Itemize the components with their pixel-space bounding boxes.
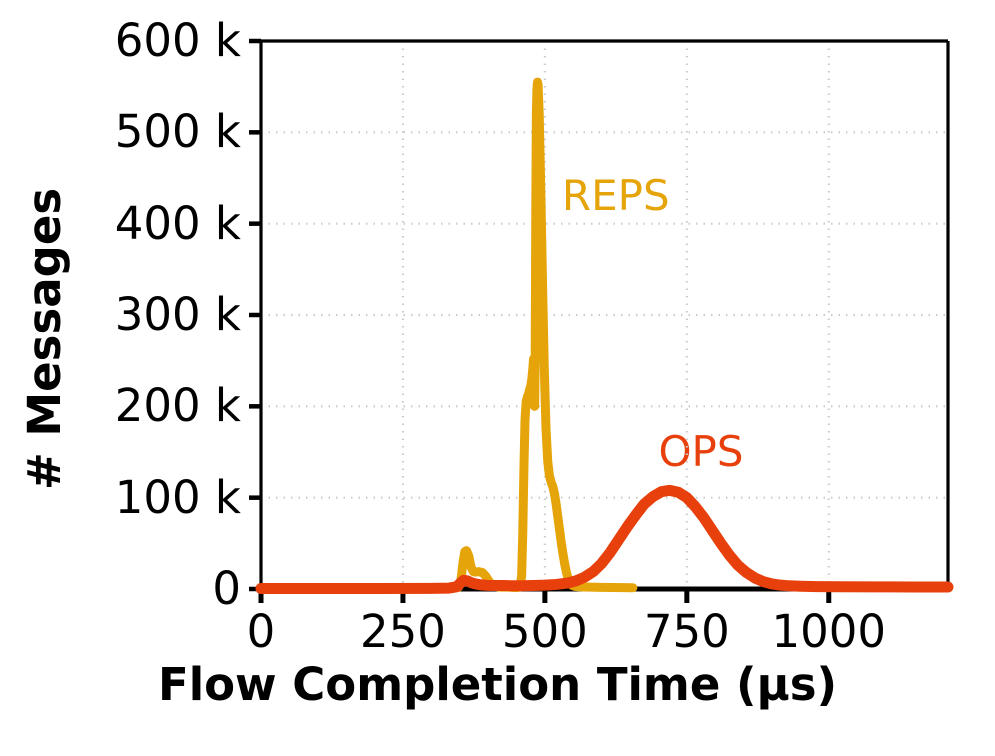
axis-spines (261, 41, 948, 589)
series-line-ops (261, 490, 948, 588)
chart-figure: # Messages 0100 k200 k300 k400 k500 k600… (0, 0, 995, 756)
series-line-reps (448, 82, 633, 588)
data-series-group (261, 82, 948, 588)
gridlines (261, 41, 948, 589)
plot-canvas (0, 0, 995, 756)
